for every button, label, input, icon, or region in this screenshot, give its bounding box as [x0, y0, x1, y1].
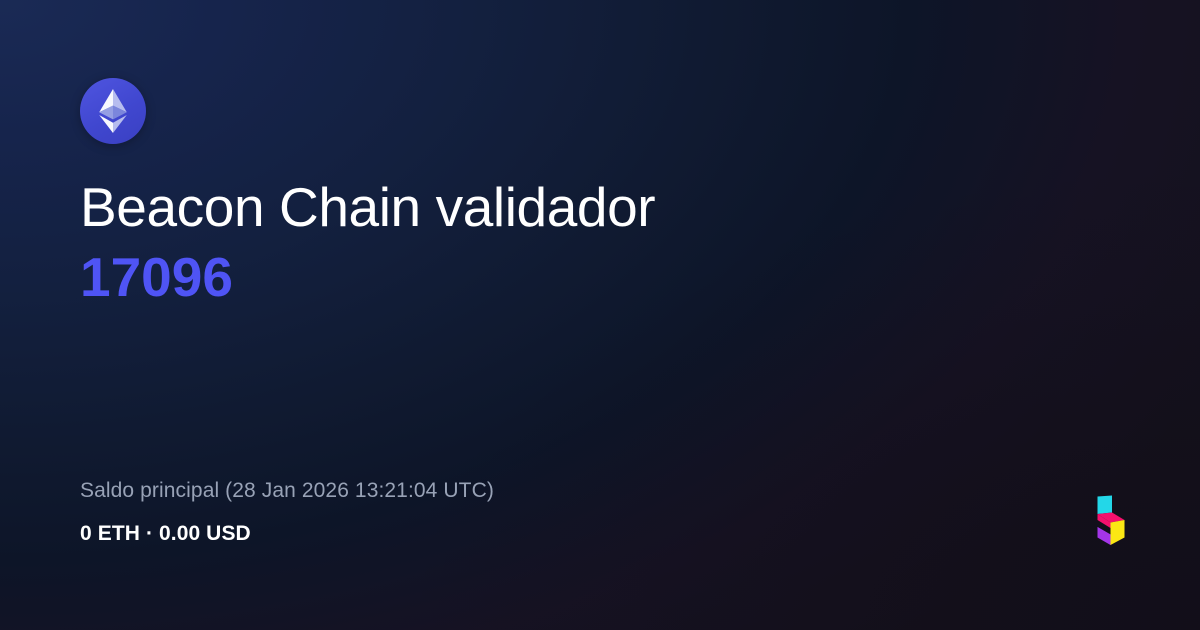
og-card: Beacon Chain validador 17096 Saldo princ…	[0, 0, 1200, 630]
balance-value: 0 ETH · 0.00 USD	[80, 520, 494, 548]
page-title: Beacon Chain validador 17096	[80, 172, 980, 313]
balance-label: Saldo principal (28 Jan 2026 13:21:04 UT…	[80, 477, 494, 505]
balance-block: Saldo principal (28 Jan 2026 13:21:04 UT…	[80, 477, 494, 548]
ethereum-icon	[80, 78, 146, 144]
page-title-text: Beacon Chain validador	[80, 176, 655, 238]
validator-index: 17096	[80, 242, 980, 312]
beaconchain-logo	[1086, 494, 1126, 552]
